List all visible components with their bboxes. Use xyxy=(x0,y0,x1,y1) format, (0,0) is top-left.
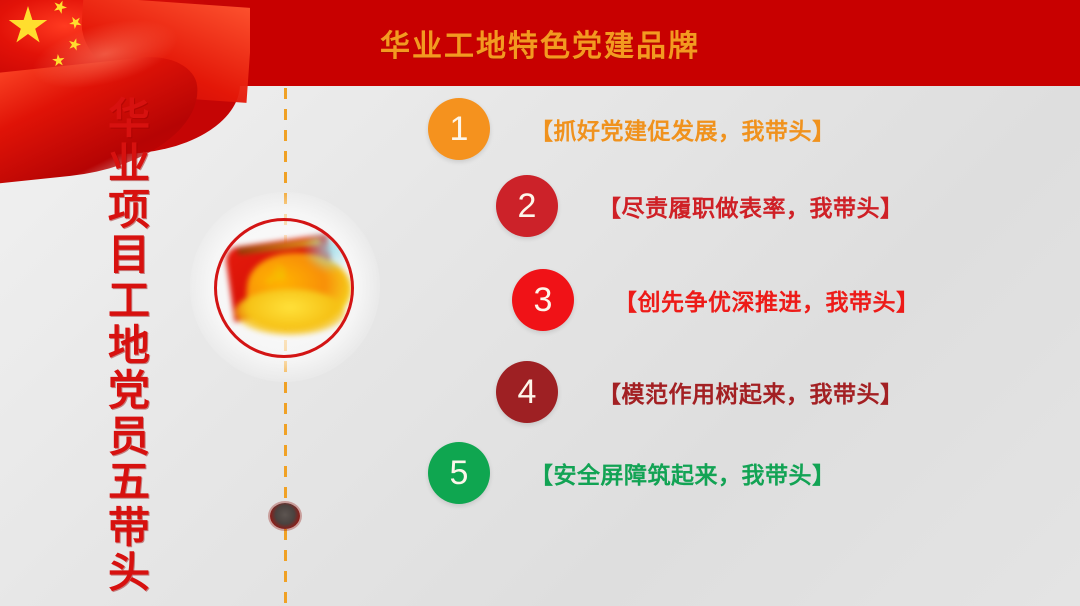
item-number-badge: 3 xyxy=(512,269,574,331)
hammer-sickle-icon: ☭ xyxy=(261,261,291,289)
vertical-title-char: 党 xyxy=(108,370,150,412)
vertical-title-char: 地 xyxy=(108,325,150,367)
item-number-badge: 5 xyxy=(428,442,490,504)
list-item[interactable]: 2 【尽责履职做表率，我带头】 xyxy=(496,175,904,237)
slide-canvas: 华业工地特色党建品牌 华 业 项 目 工 地 党 员 五 带 头 xyxy=(0,0,1080,606)
party-flag-emblem-circle: ☭ xyxy=(214,218,354,358)
party-flag-sky-highlight xyxy=(303,233,347,273)
item-number-badge: 4 xyxy=(496,361,558,423)
page-title: 华业工地特色党建品牌 xyxy=(0,0,1080,86)
item-number-badge: 1 xyxy=(428,98,490,160)
list-item[interactable]: 4 【模范作用树起来，我带头】 xyxy=(496,361,904,423)
list-item[interactable]: 5 【安全屏障筑起来，我带头】 xyxy=(428,442,836,504)
timeline-end-dot xyxy=(270,503,300,529)
item-label: 【模范作用树起来，我带头】 xyxy=(598,375,904,409)
vertical-title-char: 项 xyxy=(108,189,150,231)
vertical-title-char: 业 xyxy=(108,143,150,185)
list-item[interactable]: 1 【抓好党建促发展，我带头】 xyxy=(428,98,836,160)
item-label: 【尽责履职做表率，我带头】 xyxy=(598,189,904,223)
vertical-title-char: 工 xyxy=(108,280,150,322)
item-label: 【创先争优深推进，我带头】 xyxy=(614,283,920,317)
vertical-side-title: 华 业 项 目 工 地 党 员 五 带 头 xyxy=(98,98,160,594)
party-flag-image: ☭ xyxy=(221,227,353,351)
vertical-title-char: 目 xyxy=(108,234,150,276)
vertical-title-char: 带 xyxy=(108,507,150,549)
vertical-title-char: 头 xyxy=(108,552,150,594)
vertical-title-char: 华 xyxy=(108,98,150,140)
party-flag-gold-lower xyxy=(235,289,345,335)
vertical-title-char: 员 xyxy=(108,416,150,458)
vertical-title-char: 五 xyxy=(108,461,150,503)
item-label: 【安全屏障筑起来，我带头】 xyxy=(530,456,836,490)
list-item[interactable]: 3 【创先争优深推进，我带头】 xyxy=(512,269,920,331)
item-number-badge: 2 xyxy=(496,175,558,237)
item-label: 【抓好党建促发展，我带头】 xyxy=(530,112,836,146)
